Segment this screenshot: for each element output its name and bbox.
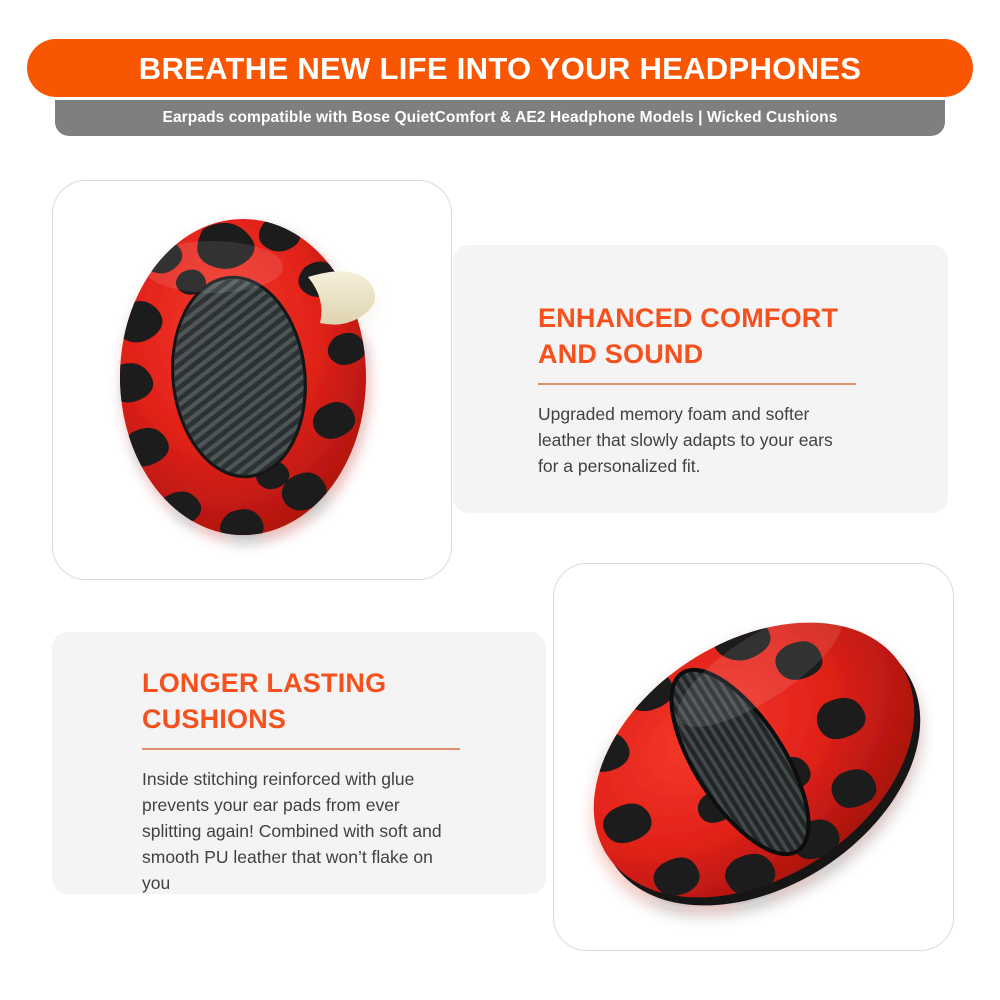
feature-heading-enhanced-comfort: ENHANCED COMFORT AND SOUND <box>538 300 908 372</box>
product-image-card-front <box>52 180 452 580</box>
earpad-angled-image <box>554 564 953 950</box>
feature-panel-enhanced-comfort: ENHANCED COMFORT AND SOUND Upgraded memo… <box>453 245 948 513</box>
header-title-bar: BREATHE NEW LIFE INTO YOUR HEADPHONES <box>27 39 973 97</box>
feature-divider <box>142 748 460 750</box>
header-subtitle-bar: Earpads compatible with Bose QuietComfor… <box>55 100 945 136</box>
product-image-card-angled <box>553 563 954 951</box>
infographic-page: BREATHE NEW LIFE INTO YOUR HEADPHONES Ea… <box>0 0 1000 1000</box>
feature-body-enhanced-comfort: Upgraded memory foam and softer leather … <box>538 402 858 480</box>
page-title: BREATHE NEW LIFE INTO YOUR HEADPHONES <box>139 53 861 84</box>
feature-divider <box>538 383 856 385</box>
feature-panel-longer-lasting: LONGER LASTING CUSHIONS Inside stitching… <box>52 632 546 894</box>
feature-body-longer-lasting: Inside stitching reinforced with glue pr… <box>142 767 462 896</box>
earpad-front-image <box>53 181 451 579</box>
page-subtitle: Earpads compatible with Bose QuietComfor… <box>163 109 838 127</box>
feature-heading-longer-lasting: LONGER LASTING CUSHIONS <box>142 665 506 737</box>
